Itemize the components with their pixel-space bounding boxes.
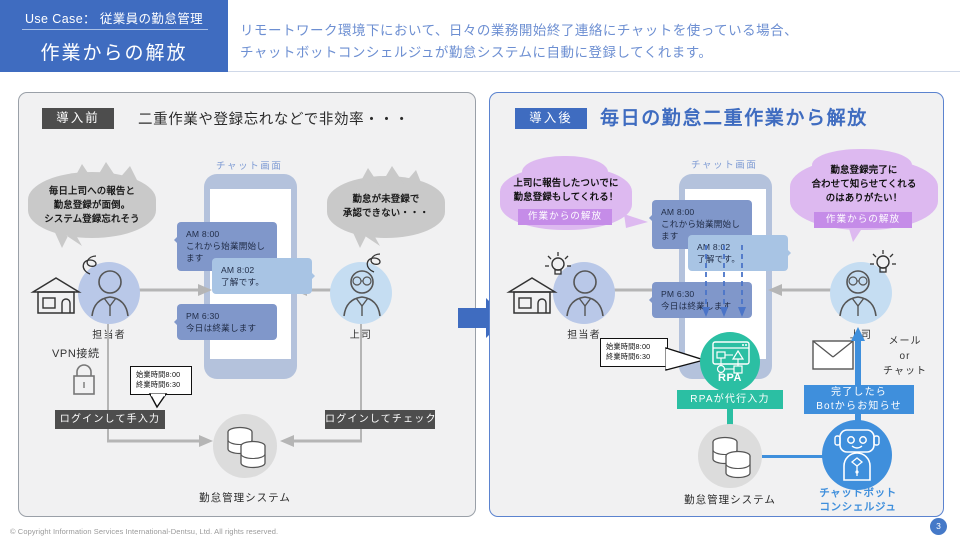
header-underline bbox=[228, 71, 960, 72]
lightbulb-icon bbox=[868, 248, 898, 276]
header-divider bbox=[22, 29, 208, 30]
worry-swirl-icon bbox=[78, 252, 108, 278]
before-message-1-time: AM 8:00 bbox=[186, 229, 219, 239]
after-system-label: 勤怠管理システム bbox=[670, 492, 790, 507]
before-cloud-right-spikes bbox=[350, 166, 430, 192]
robot-icon bbox=[833, 428, 881, 484]
after-note: 始業時間8:00 終業時間6:30 bbox=[600, 338, 668, 367]
after-cloud-right-badge: 作業からの解放 bbox=[814, 212, 912, 228]
before-message-2: AM 8:02了解です。 bbox=[212, 258, 312, 294]
rpa-label: RPA bbox=[700, 372, 760, 384]
database-icon bbox=[224, 424, 270, 468]
before-message-3: PM 6:30今日は終業します bbox=[177, 304, 277, 340]
before-system-label: 勤怠管理システム bbox=[185, 490, 305, 505]
before-cloud-left-spikes-bottom bbox=[48, 226, 88, 252]
after-cloud-left-tail bbox=[624, 212, 650, 230]
before-person-left-label: 担当者 bbox=[78, 326, 140, 341]
lock-icon bbox=[70, 362, 98, 396]
page-number: 3 bbox=[930, 518, 947, 535]
header-lead-text: リモートワーク環境下において、日々の業務開始終了連絡にチャットを使っている場合、… bbox=[240, 20, 946, 64]
after-tag: 導入後 bbox=[515, 108, 587, 129]
after-rpa-dashed-arrows bbox=[700, 245, 760, 330]
house-icon bbox=[32, 276, 82, 316]
use-case-label: Use Case： 従業員の勤怠管理 bbox=[0, 8, 228, 27]
after-message-3-time: PM 6:30 bbox=[661, 289, 694, 299]
before-callout-right: ログインしてチェック bbox=[325, 410, 435, 429]
bot-callout: 完了したら Botからお知らせ bbox=[804, 385, 914, 414]
vpn-label: VPN接続 bbox=[52, 345, 100, 361]
rpa-callout: RPAが代行入力 bbox=[677, 390, 783, 409]
database-icon bbox=[709, 434, 755, 478]
after-message-1-time: AM 8:00 bbox=[661, 207, 694, 217]
copyright-footer: © Copyright Information Services Interna… bbox=[10, 527, 278, 536]
before-callout-left: ログインして手入力 bbox=[55, 410, 165, 429]
db-to-bot-line bbox=[762, 455, 824, 458]
before-note: 始業時間8:00 終業時間6:30 bbox=[130, 366, 192, 395]
after-cloud-left-badge: 作業からの解放 bbox=[518, 209, 612, 225]
before-heading: 二重作業や登録忘れなどで非効率・・・ bbox=[138, 108, 410, 129]
before-cloud-right-text: 勤怠が未登録で 承認できない・・・ bbox=[327, 192, 445, 220]
house-icon bbox=[508, 276, 558, 316]
bot-up-arrow bbox=[850, 325, 866, 435]
before-message-2-time: AM 8:02 bbox=[221, 265, 254, 275]
before-arrow-to-db-right bbox=[278, 432, 364, 450]
before-cloud-right-spikes-bottom bbox=[348, 226, 384, 252]
after-cloud-left-text: 上司に報告したついでに 勤怠登録もしてくれる！ bbox=[500, 176, 632, 204]
before-message-2-text: 了解です。 bbox=[221, 277, 264, 287]
after-heading: 毎日の勤怠二重作業から解放 bbox=[600, 103, 868, 130]
chatbot-label: チャットボット コンシェルジュ bbox=[802, 486, 914, 514]
before-tag: 導入前 bbox=[42, 108, 114, 129]
before-cloud-left-text: 毎日上司への報告と 勤怠登録が面倒。 システム登録忘れそう bbox=[28, 184, 156, 226]
note-pointer bbox=[148, 394, 170, 408]
mail-icon bbox=[812, 340, 854, 370]
slide: Use Case： 従業員の勤怠管理 作業からの解放 リモートワーク環境下におい… bbox=[0, 0, 960, 540]
worry-swirl-icon bbox=[362, 250, 392, 276]
before-arrow-to-db-left bbox=[107, 432, 217, 450]
page-title: 作業からの解放 bbox=[0, 38, 228, 65]
before-message-3-text: 今日は終業します bbox=[186, 323, 256, 333]
before-message-3-time: PM 6:30 bbox=[186, 311, 219, 321]
after-chat-label: チャット画面 bbox=[691, 157, 758, 171]
before-chat-label: チャット画面 bbox=[216, 158, 283, 172]
mail-or-chat-label: メール or チャット bbox=[870, 334, 940, 379]
lightbulb-icon bbox=[543, 250, 573, 278]
after-cloud-right-text: 勤怠登録完了に 合わせて知らせてくれる のはありがたい！ bbox=[790, 163, 938, 205]
